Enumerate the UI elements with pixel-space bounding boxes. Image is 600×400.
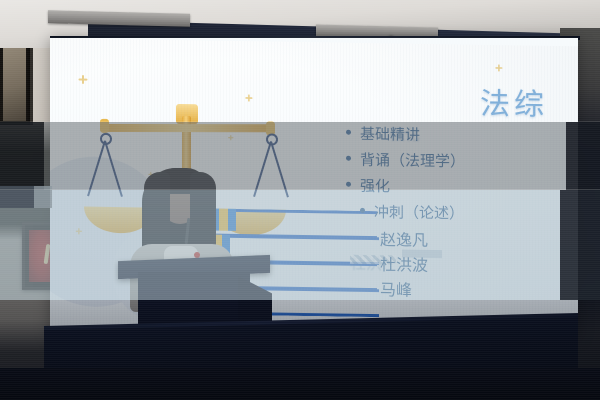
sparkle-icon (495, 64, 502, 71)
bullet-dot-icon (360, 208, 365, 213)
screenshot-root: 法综 强化 基础精讲 背诵（法理学） 强化 (0, 0, 600, 400)
slide-title: 法综 (480, 79, 548, 124)
instructor-name: 杜洪波 (380, 252, 428, 278)
bullet-dot-icon (346, 130, 351, 135)
slide-bullet-list: 基础精讲 背诵（法理学） 强化 冲刺（论述） (346, 121, 576, 229)
sparkle-icon (228, 135, 233, 140)
list-item: 冲刺（论述） (346, 199, 576, 229)
bullet-dot-icon (346, 182, 351, 187)
bullet-dot-icon (346, 156, 351, 161)
scales-chain (270, 141, 289, 197)
instructor-name: 赵逸凡 (380, 227, 428, 253)
list-item: 强化 (346, 173, 576, 203)
sparkle-icon (245, 94, 252, 101)
scales-chain (104, 141, 123, 197)
sparkle-icon (75, 228, 81, 234)
instructor-name: 马峰 (380, 277, 428, 303)
slide-instructor-names: 赵逸凡 杜洪波 马峰 (380, 227, 428, 303)
list-item-label: 基础精讲 (360, 121, 420, 148)
scales-beam-cap (100, 119, 109, 133)
scales-beam (102, 124, 272, 132)
sparkle-icon (78, 74, 87, 83)
list-item-label: 强化 (360, 173, 390, 199)
scales-chain (87, 141, 106, 197)
floor (0, 368, 600, 400)
scales-chain (253, 141, 272, 197)
list-item: 基础精讲 (346, 121, 576, 151)
list-item-label: 冲刺（论述） (374, 199, 464, 226)
list-item-label: 背诵（法理学） (360, 147, 465, 175)
list-item: 背诵（法理学） (346, 147, 576, 177)
